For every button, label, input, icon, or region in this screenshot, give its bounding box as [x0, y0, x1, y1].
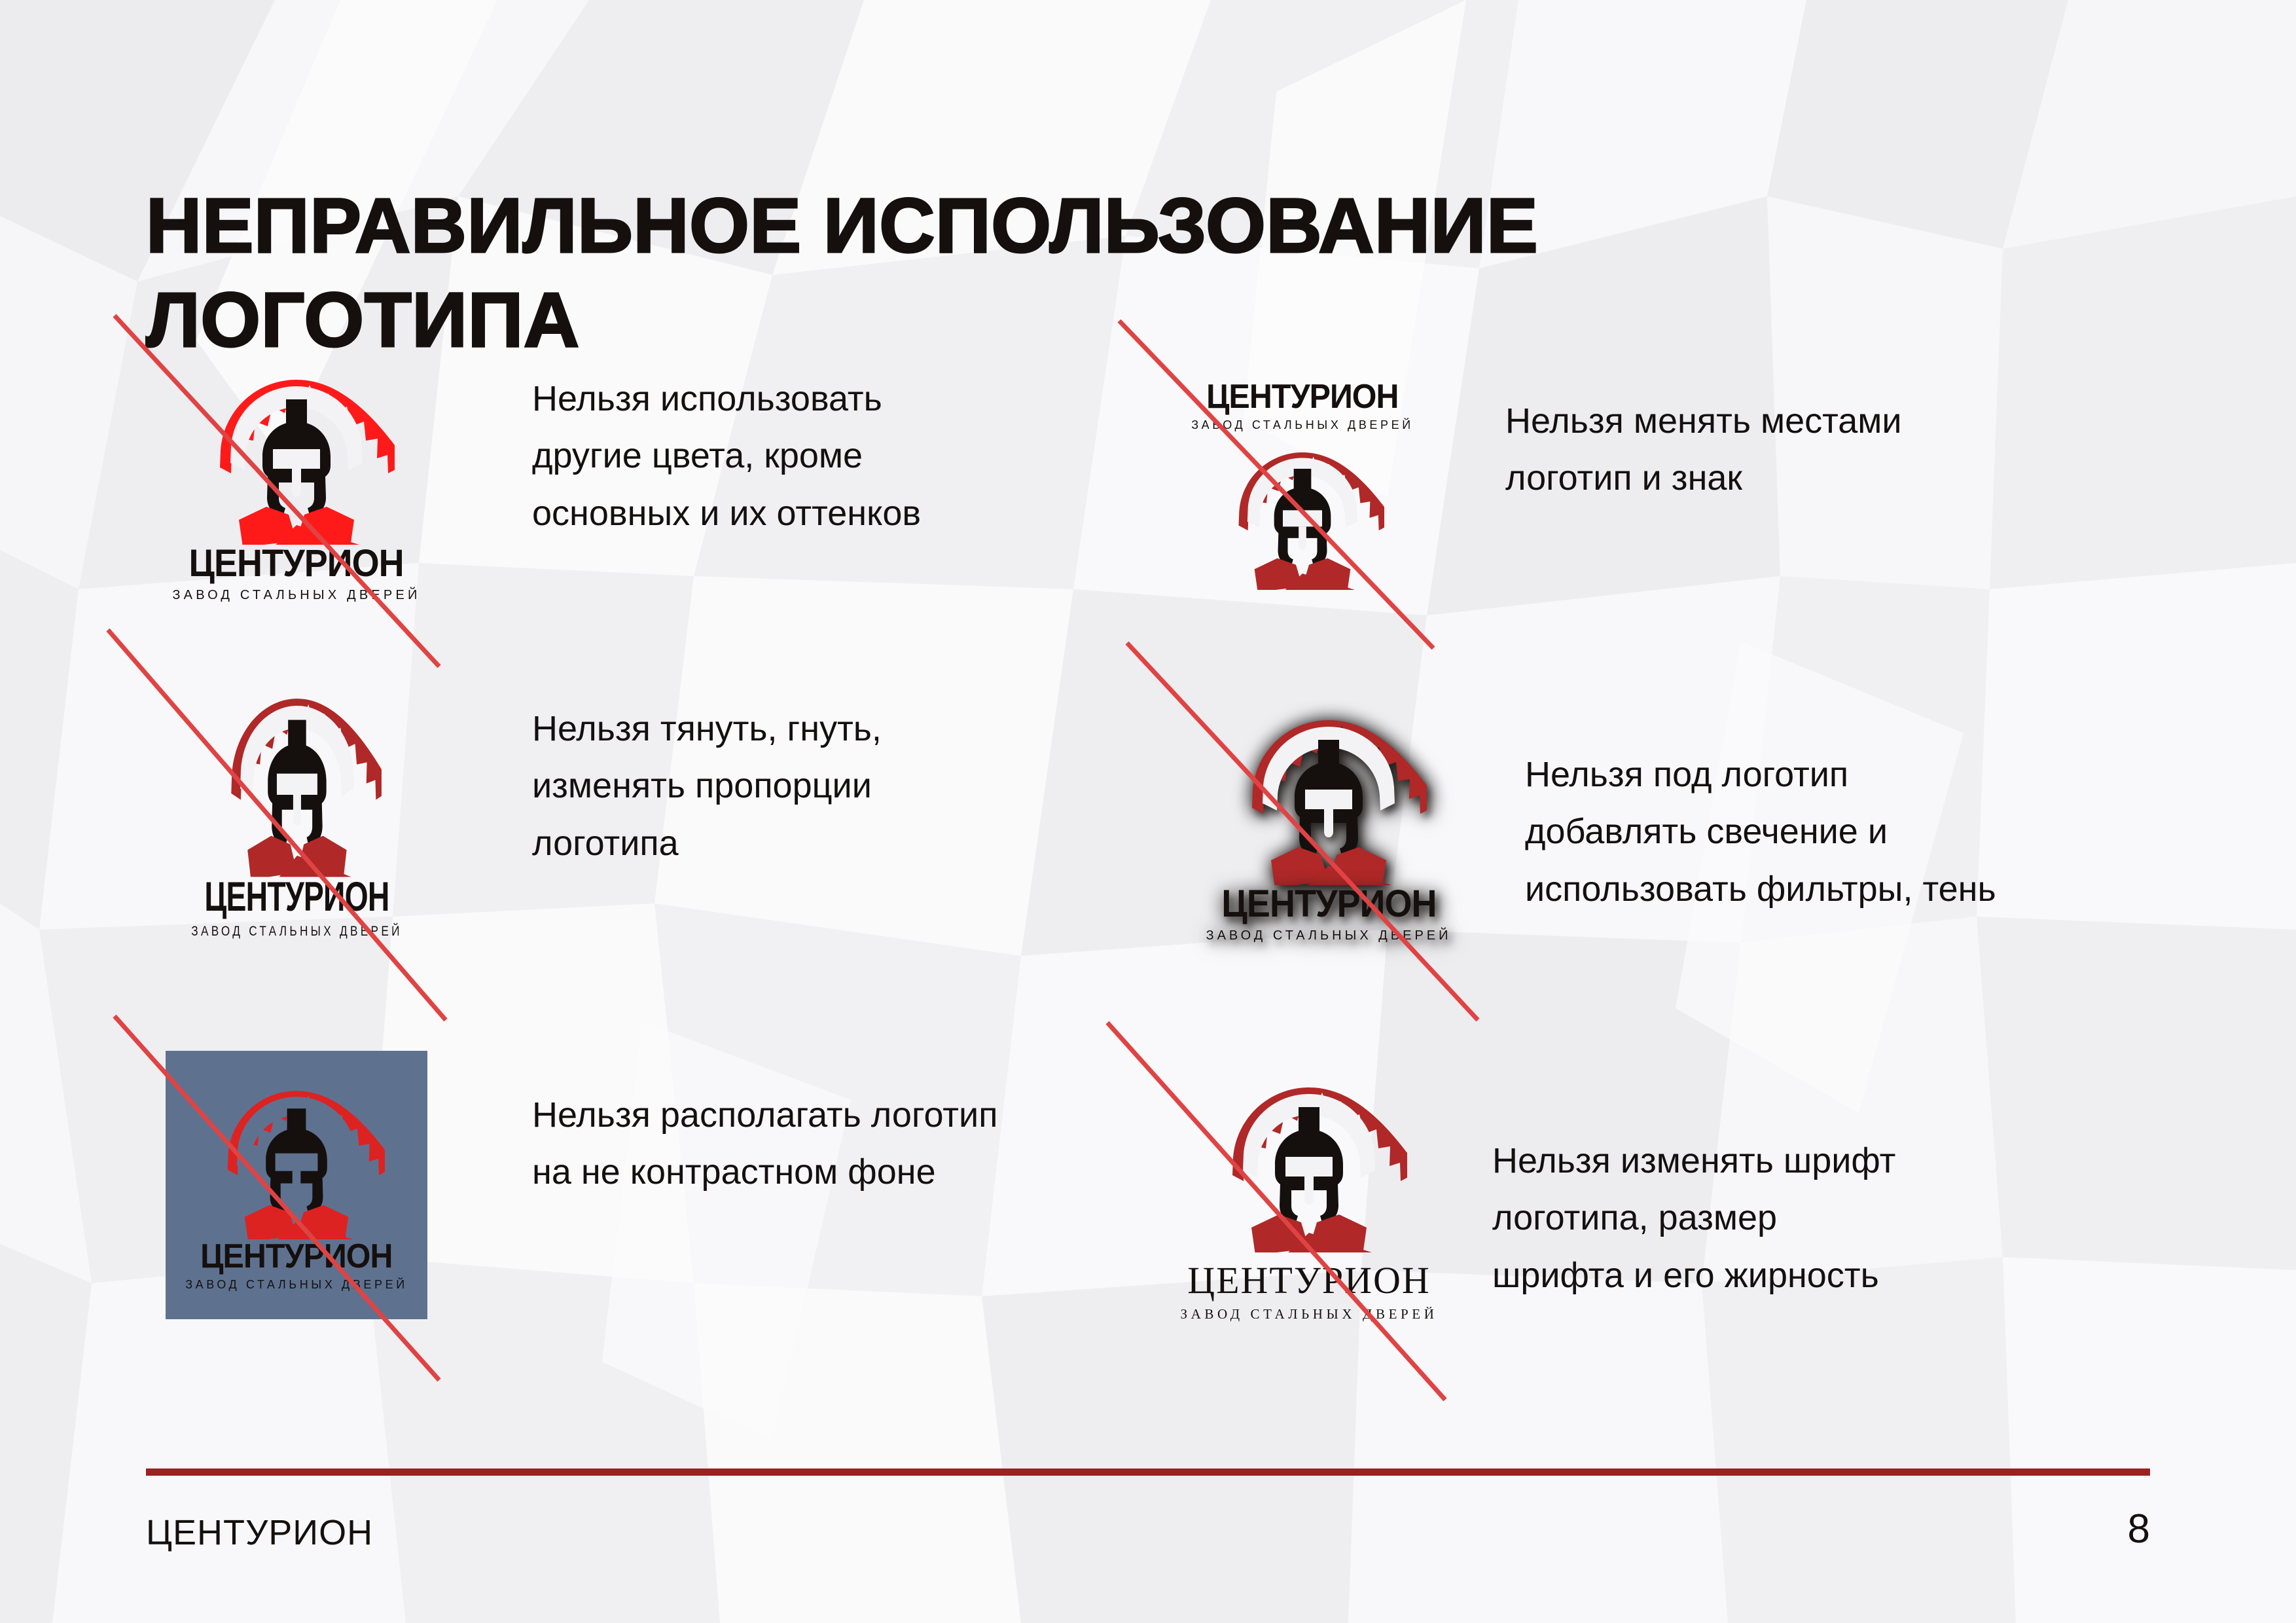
logo-lockup-swapped: ЦЕНТУРИОН ЗАВОД СТАЛЬНЫХ ДВЕРЕЙ [1191, 380, 1414, 590]
logo-example-glow: ЦЕНТУРИОН ЗАВОД СТАЛЬНЫХ ДВЕРЕЙ [1172, 687, 1486, 962]
centurion-helmet-icon [212, 685, 381, 877]
logo-name: ЦЕНТУРИОН [1181, 1262, 1438, 1300]
centurion-helmet-icon [1230, 708, 1427, 885]
misuse-caption: Нельзя под логотип добавлять свечение и … [1525, 746, 2153, 918]
centurion-helmet-icon [1221, 443, 1384, 590]
misuse-caption: Нельзя располагать логотип на не контрас… [532, 1087, 1075, 1201]
misuse-item-changed-font: ЦЕНТУРИОН ЗАВОД СТАЛЬНЫХ ДВЕРЕЙ Нельзя и… [1139, 1061, 2160, 1336]
logo-example-stretched: ЦЕНТУРИОН ЗАВОД СТАЛЬНЫХ ДВЕРЕЙ [146, 674, 447, 949]
logo-tagline: ЗАВОД СТАЛЬНЫХ ДВЕРЕЙ [1191, 419, 1414, 431]
logo-example-low-contrast: ЦЕНТУРИОН ЗАВОД СТАЛЬНЫХ ДВЕРЕЙ [146, 1048, 447, 1322]
slide-root: НЕПРАВИЛЬНОЕ ИСПОЛЬЗОВАНИЕ ЛОГОТИПА [0, 0, 2296, 1623]
logo-example-wrong-colors: ЦЕНТУРИОН ЗАВОД СТАЛЬНЫХ ДВЕРЕЙ [146, 354, 447, 615]
logo-wordmark-serif: ЦЕНТУРИОН ЗАВОД СТАЛЬНЫХ ДВЕРЕЙ [1181, 1262, 1438, 1321]
page-title: НЕПРАВИЛЬНОЕ ИСПОЛЬЗОВАНИЕ ЛОГОТИПА [146, 179, 1913, 368]
logo-tagline: ЗАВОД СТАЛЬНЫХ ДВЕРЕЙ [1181, 1307, 1438, 1321]
misuse-caption: Нельзя менять местами логотип и знак [1505, 393, 2094, 507]
centurion-helmet-icon [208, 1080, 385, 1239]
logo-name: ЦЕНТУРИОН [198, 877, 395, 918]
misuse-caption: Нельзя использовать другие цвета, кроме … [532, 371, 1069, 542]
logo-name: ЦЕНТУРИОН [193, 1239, 400, 1273]
misuse-item-low-contrast-bg: ЦЕНТУРИОН ЗАВОД СТАЛЬНЫХ ДВЕРЕЙ Нельзя р… [146, 1048, 1075, 1322]
misuse-item-glow-shadow: ЦЕНТУРИОН ЗАВОД СТАЛЬНЫХ ДВЕРЕЙ Нельзя п… [1172, 687, 2160, 962]
logo-tagline: ЗАВОД СТАЛЬНЫХ ДВЕРЕЙ [1206, 929, 1452, 942]
low-contrast-backdrop: ЦЕНТУРИОН ЗАВОД СТАЛЬНЫХ ДВЕРЕЙ [166, 1051, 427, 1319]
logo-name: ЦЕНТУРИОН [1215, 885, 1443, 923]
misuse-item-swapped-mark: ЦЕНТУРИОН ЗАВОД СТАЛЬНЫХ ДВЕРЕЙ Нельзя м… [1139, 354, 2160, 615]
logo-wordmark: ЦЕНТУРИОН ЗАВОД СТАЛЬНЫХ ДВЕРЕЙ [172, 545, 420, 602]
logo-wordmark: ЦЕНТУРИОН ЗАВОД СТАЛЬНЫХ ДВЕРЕЙ [191, 877, 403, 938]
logo-tagline: ЗАВОД СТАЛЬНЫХ ДВЕРЕЙ [172, 589, 420, 602]
page-number: 8 [2128, 1506, 2150, 1552]
logo-wordmark: ЦЕНТУРИОН ЗАВОД СТАЛЬНЫХ ДВЕРЕЙ [1191, 380, 1414, 431]
logo-lockup-serif: ЦЕНТУРИОН ЗАВОД СТАЛЬНЫХ ДВЕРЕЙ [1181, 1076, 1438, 1321]
misuse-item-wrong-colors: ЦЕНТУРИОН ЗАВОД СТАЛЬНЫХ ДВЕРЕЙ Нельзя и… [146, 354, 1075, 615]
logo-example-swapped: ЦЕНТУРИОН ЗАВОД СТАЛЬНЫХ ДВЕРЕЙ [1139, 354, 1466, 615]
logo-lockup: ЦЕНТУРИОН ЗАВОД СТАЛЬНЫХ ДВЕРЕЙ [185, 1080, 408, 1290]
logo-wordmark: ЦЕНТУРИОН ЗАВОД СТАЛЬНЫХ ДВЕРЕЙ [185, 1239, 408, 1290]
centurion-helmet-icon [1211, 1076, 1407, 1252]
misuse-item-stretched: ЦЕНТУРИОН ЗАВОД СТАЛЬНЫХ ДВЕРЕЙ Нельзя т… [146, 674, 1075, 949]
logo-name: ЦЕНТУРИОН [1199, 380, 1406, 414]
misuse-caption: Нельзя тянуть, гнуть, изменять пропорции… [532, 701, 1069, 872]
logo-example-serif-font: ЦЕНТУРИОН ЗАВОД СТАЛЬНЫХ ДВЕРЕЙ [1139, 1061, 1479, 1336]
logo-tagline: ЗАВОД СТАЛЬНЫХ ДВЕРЕЙ [191, 924, 403, 938]
logo-name: ЦЕНТУРИОН [181, 545, 412, 583]
logo-lockup-glow: ЦЕНТУРИОН ЗАВОД СТАЛЬНЫХ ДВЕРЕЙ [1206, 708, 1452, 942]
footer-brand: ЦЕНТУРИОН [146, 1512, 373, 1553]
misuse-caption: Нельзя изменять шрифт логотипа, размер ш… [1492, 1133, 2121, 1304]
footer-divider [146, 1468, 2150, 1476]
logo-lockup: ЦЕНТУРИОН ЗАВОД СТАЛЬНЫХ ДВЕРЕЙ [172, 368, 420, 602]
logo-tagline: ЗАВОД СТАЛЬНЫХ ДВЕРЕЙ [185, 1279, 408, 1290]
logo-wordmark: ЦЕНТУРИОН ЗАВОД СТАЛЬНЫХ ДВЕРЕЙ [1206, 885, 1452, 942]
centurion-helmet-icon [198, 368, 395, 545]
logo-lockup-distorted: ЦЕНТУРИОН ЗАВОД СТАЛЬНЫХ ДВЕРЕЙ [191, 685, 403, 938]
